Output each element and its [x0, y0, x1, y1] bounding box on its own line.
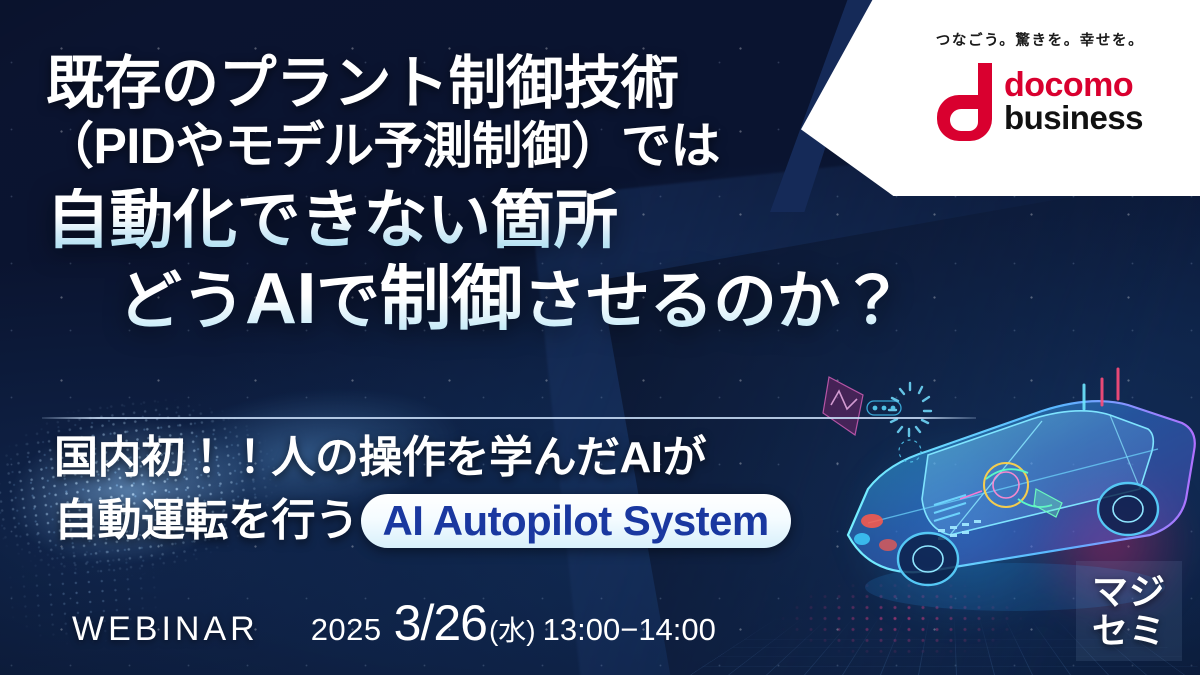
section-divider	[42, 417, 976, 419]
event-day-of-week: (水)	[489, 609, 536, 649]
headline-line-4-control: 制御	[380, 259, 523, 339]
majisemi-line-1: マジ	[1092, 573, 1166, 610]
event-date: 3/26	[394, 594, 487, 652]
headline-line-4-a: どう	[118, 265, 245, 337]
product-name-badge-label: AI Autopilot System	[383, 500, 769, 542]
subtitle-line-2-prefix: 自動運転を行う	[54, 499, 359, 543]
logo-docomo-text: docomo	[1004, 69, 1143, 102]
event-type-label: WEBINAR	[72, 610, 259, 649]
webinar-banner: つなごう。驚きを。幸せを。 docomo business 既存のプラント制御技…	[0, 0, 1200, 675]
headline-line-4-e: させるのか？	[523, 265, 904, 337]
subtitle-block: 国内初！！人の操作を学んだAIが 自動運転を行う AI Autopilot Sy…	[0, 436, 960, 548]
headline-line-4-ai: AI	[245, 259, 316, 339]
logo-words: docomo business	[1004, 69, 1143, 135]
product-name-badge: AI Autopilot System	[361, 494, 791, 548]
footer-row: WEBINAR 2025 3/26 (水) 13:00−14:00	[0, 594, 716, 652]
headline-block: 既存のプラント制御技術 （PIDやモデル予測制御）では 自動化できない箇所 どう…	[0, 54, 1000, 337]
headline-line-3: 自動化できない箇所	[46, 188, 1000, 253]
majisemi-line-2: セミ	[1092, 612, 1166, 649]
headline-line-1: 既存のプラント制御技術	[46, 54, 1000, 113]
headline-line-4-c: で	[316, 265, 380, 337]
logo-business-text: business	[1004, 102, 1143, 134]
majisemi-logo: マジ セミ	[1076, 561, 1182, 661]
headline-line-2: （PIDやモデル予測制御）では	[44, 121, 1000, 172]
event-year: 2025	[311, 612, 382, 648]
subtitle-line-2: 自動運転を行う AI Autopilot System	[54, 494, 960, 548]
subtitle-line-1: 国内初！！人の操作を学んだAIが	[54, 436, 960, 480]
event-datetime: 2025 3/26 (水) 13:00−14:00	[311, 594, 716, 652]
event-time: 13:00−14:00	[543, 612, 716, 648]
headline-line-4: どうAIで制御させるのか？	[118, 263, 1000, 336]
docomo-tagline: つなごう。驚きを。幸せを。	[936, 34, 1144, 49]
